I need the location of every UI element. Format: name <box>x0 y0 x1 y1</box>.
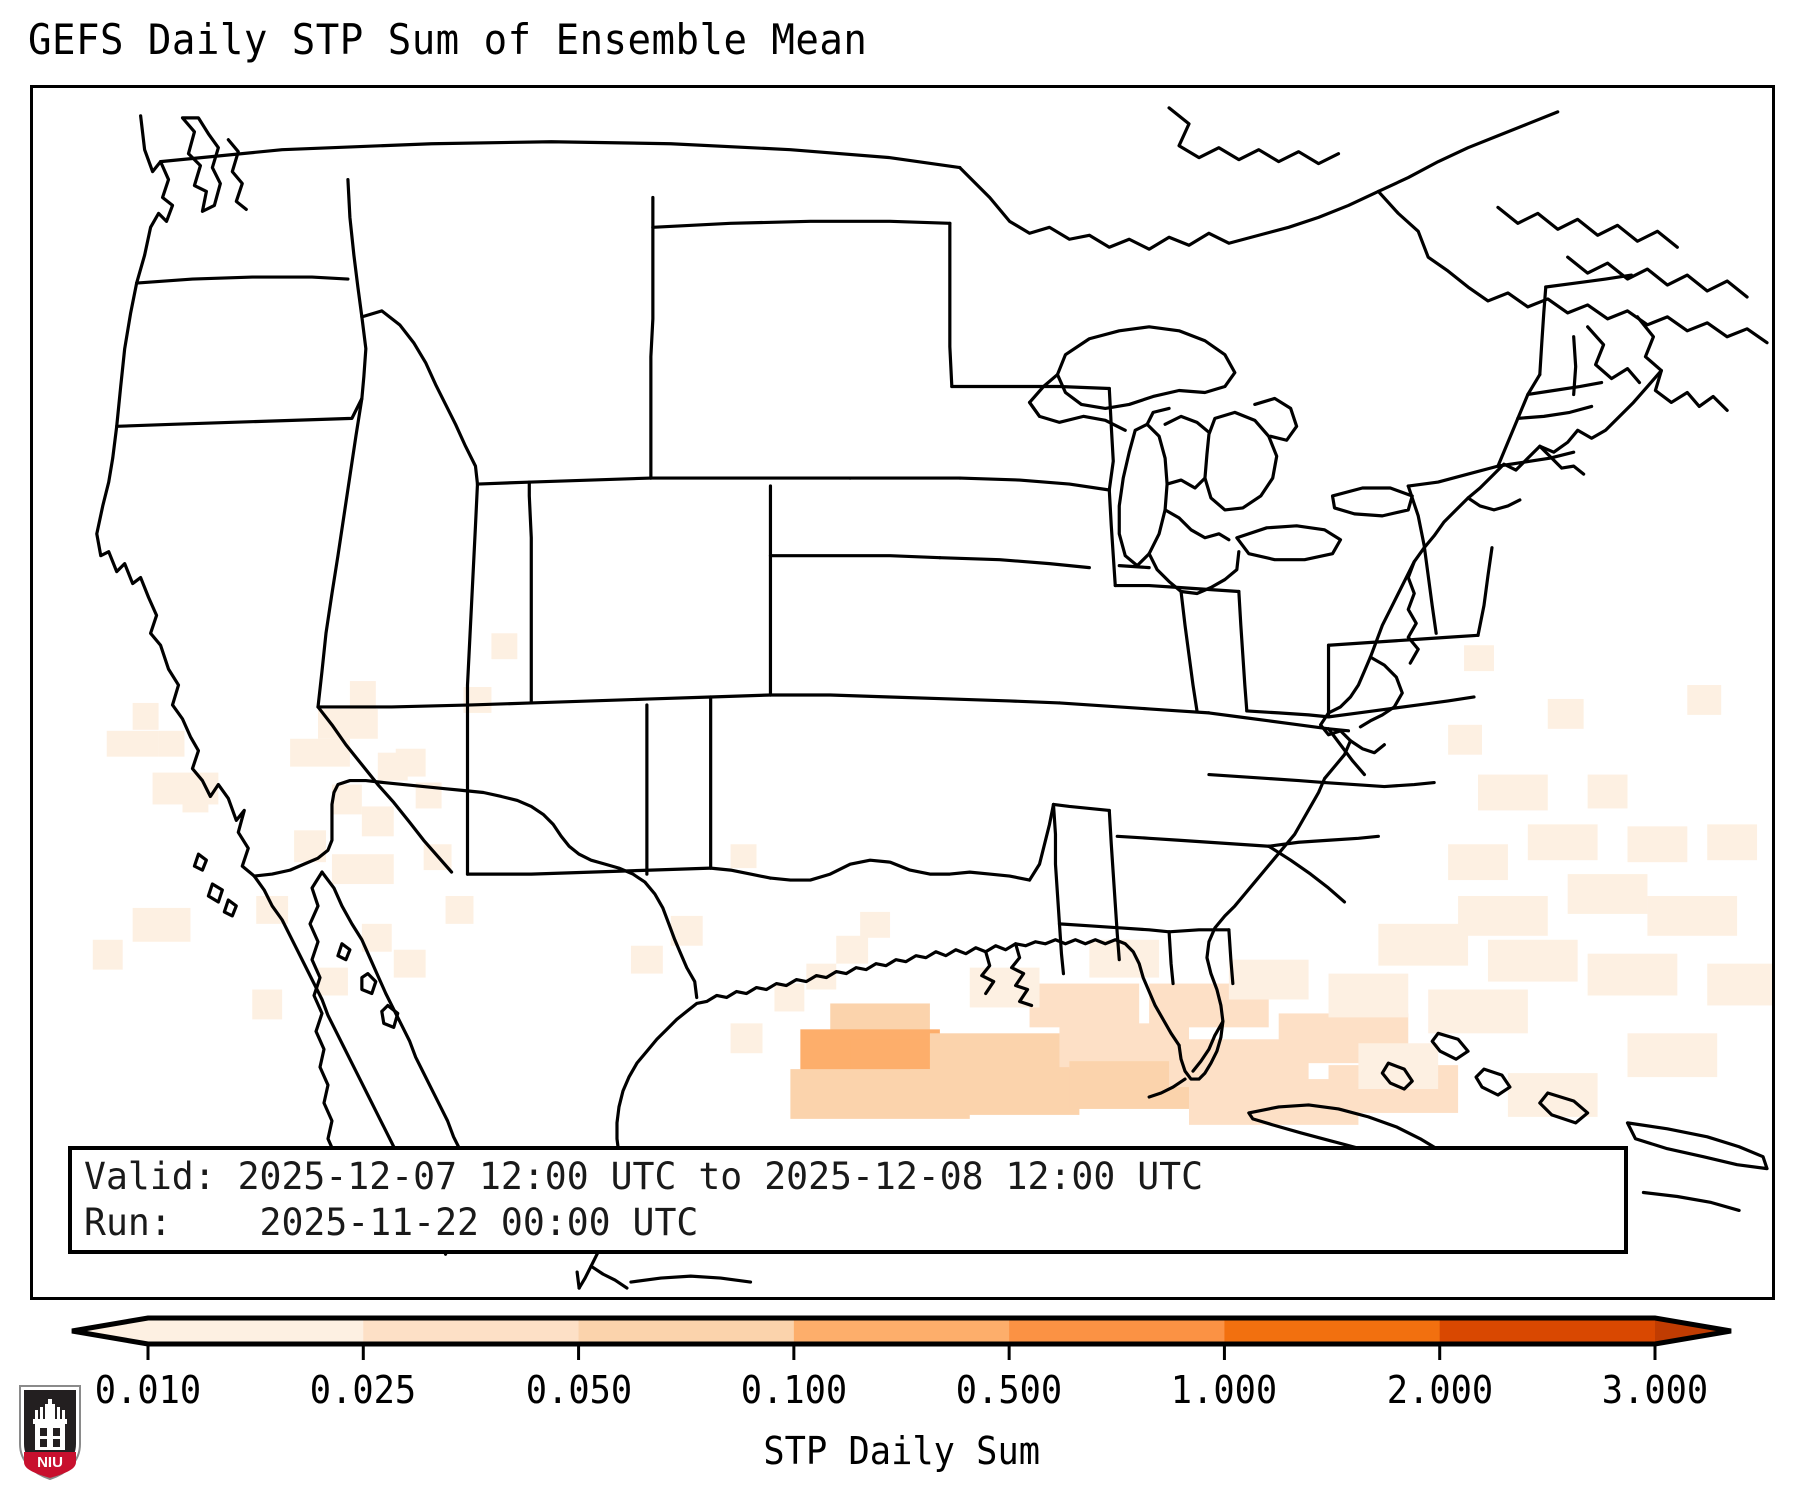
logo-text: NIU <box>37 1454 63 1471</box>
map-panel <box>30 85 1775 1300</box>
valid-time-text: Valid: 2025-12-07 12:00 UTC to 2025-12-0… <box>84 1155 1203 1199</box>
page-title: GEFS Daily STP Sum of Ensemble Mean <box>28 14 867 66</box>
colorbar-segment <box>794 1318 1010 1344</box>
basemap-outlines <box>33 88 1772 1297</box>
colorbar-segment <box>1440 1318 1656 1344</box>
forecast-info-box: Valid: 2025-12-07 12:00 UTC to 2025-12-0… <box>68 1146 1628 1254</box>
colorbar-tick-label: 1.000 <box>1171 1368 1277 1412</box>
colorbar-tick-label: 0.500 <box>956 1368 1062 1412</box>
run-time-text: Run: 2025-11-22 00:00 UTC <box>84 1201 698 1245</box>
colorbar-tick-label: 0.010 <box>95 1368 201 1412</box>
colorbar-tick-label: 0.050 <box>525 1368 631 1412</box>
colorbar-axis-label: STP Daily Sum <box>0 1428 1803 1474</box>
colorbar-segment <box>1224 1318 1440 1344</box>
colorbar-tick-label: 0.100 <box>741 1368 847 1412</box>
colorbar-swatches <box>0 1308 1803 1368</box>
colorbar-tick-label: 3.000 <box>1602 1368 1708 1412</box>
colorbar-segment <box>363 1318 579 1344</box>
colorbar <box>0 1308 1803 1368</box>
colorbar-segment <box>1009 1318 1225 1344</box>
colorbar-segment <box>579 1318 795 1344</box>
colorbar-tick-label: 0.025 <box>310 1368 416 1412</box>
colorbar-segment <box>148 1318 364 1344</box>
colorbar-tick-labels: 0.0100.0250.0500.1000.5001.0002.0003.000 <box>0 1368 1803 1416</box>
colorbar-axis-label-text: STP Daily Sum <box>763 1428 1040 1474</box>
niu-logo: NIU <box>16 1382 84 1482</box>
colorbar-tick-label: 2.000 <box>1387 1368 1493 1412</box>
